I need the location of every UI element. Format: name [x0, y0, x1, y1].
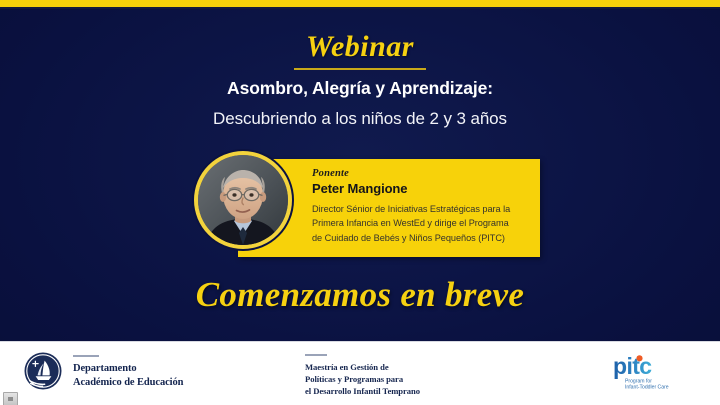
pitc-tagline-line2: Infant-Toddler Care [625, 385, 669, 391]
speaker-avatar [194, 151, 292, 249]
speaker-card-text: Ponente Peter Mangione Director Sénior d… [312, 168, 534, 245]
status-message: Comenzamos en breve [0, 275, 720, 315]
slide-stage: Webinar Asombro, Alegría y Aprendizaje: … [0, 9, 720, 341]
status-message-block: Comenzamos en breve [0, 275, 720, 315]
program-name-line3: el Desarrollo Infantil Temprano [305, 385, 420, 397]
speaker-avatar-photo [198, 155, 288, 245]
department-logo: Departamento Académico de Educación [24, 352, 183, 390]
top-accent-bar [0, 0, 720, 7]
webinar-kicker: Webinar [0, 31, 720, 63]
speaker-bio-line3: de Cuidado de Bebés y Niños Pequeños (PI… [312, 231, 534, 245]
department-logo-dash [73, 355, 99, 357]
svg-text:pitc: pitc [613, 355, 652, 379]
page-title: Asombro, Alegría y Aprendizaje: Descubri… [0, 77, 720, 130]
page-title-line2: Descubriendo a los niños de 2 y 3 años [0, 107, 720, 131]
page-title-line1: Asombro, Alegría y Aprendizaje: [0, 77, 720, 101]
program-name-dash [305, 354, 327, 356]
program-name-line1: Maestría en Gestión de [305, 361, 420, 373]
speaker-name: Peter Mangione [312, 181, 534, 196]
footer-top-divider [0, 341, 720, 342]
department-logo-text: Departamento Académico de Educación [73, 353, 183, 390]
program-name: Maestría en Gestión de Políticas y Progr… [305, 354, 420, 398]
speaker-bio-line2: Primera Infancia en WestEd y dirige el P… [312, 216, 534, 230]
webinar-slide: Webinar Asombro, Alegría y Aprendizaje: … [0, 0, 720, 405]
pitc-tagline-line1: Program for [625, 379, 652, 385]
webinar-kicker-block: Webinar [0, 31, 720, 70]
show-desktop-chip[interactable] [3, 392, 18, 405]
department-logo-line2: Académico de Educación [73, 376, 183, 390]
speaker-bio-line1: Director Sénior de Iniciativas Estratégi… [312, 202, 534, 216]
pitc-logo: pitc Program for Infant-Toddler Care [613, 355, 679, 391]
footer-bar: Departamento Académico de Educación Maes… [0, 341, 720, 405]
pucp-ship-emblem-icon [24, 352, 62, 390]
department-logo-line1: Departamento [73, 362, 183, 376]
webinar-kicker-underline [294, 68, 426, 70]
program-name-line2: Políticas y Programas para [305, 373, 420, 385]
speaker-bio: Director Sénior de Iniciativas Estratégi… [312, 202, 534, 245]
speaker-role-label: Ponente [312, 168, 534, 179]
